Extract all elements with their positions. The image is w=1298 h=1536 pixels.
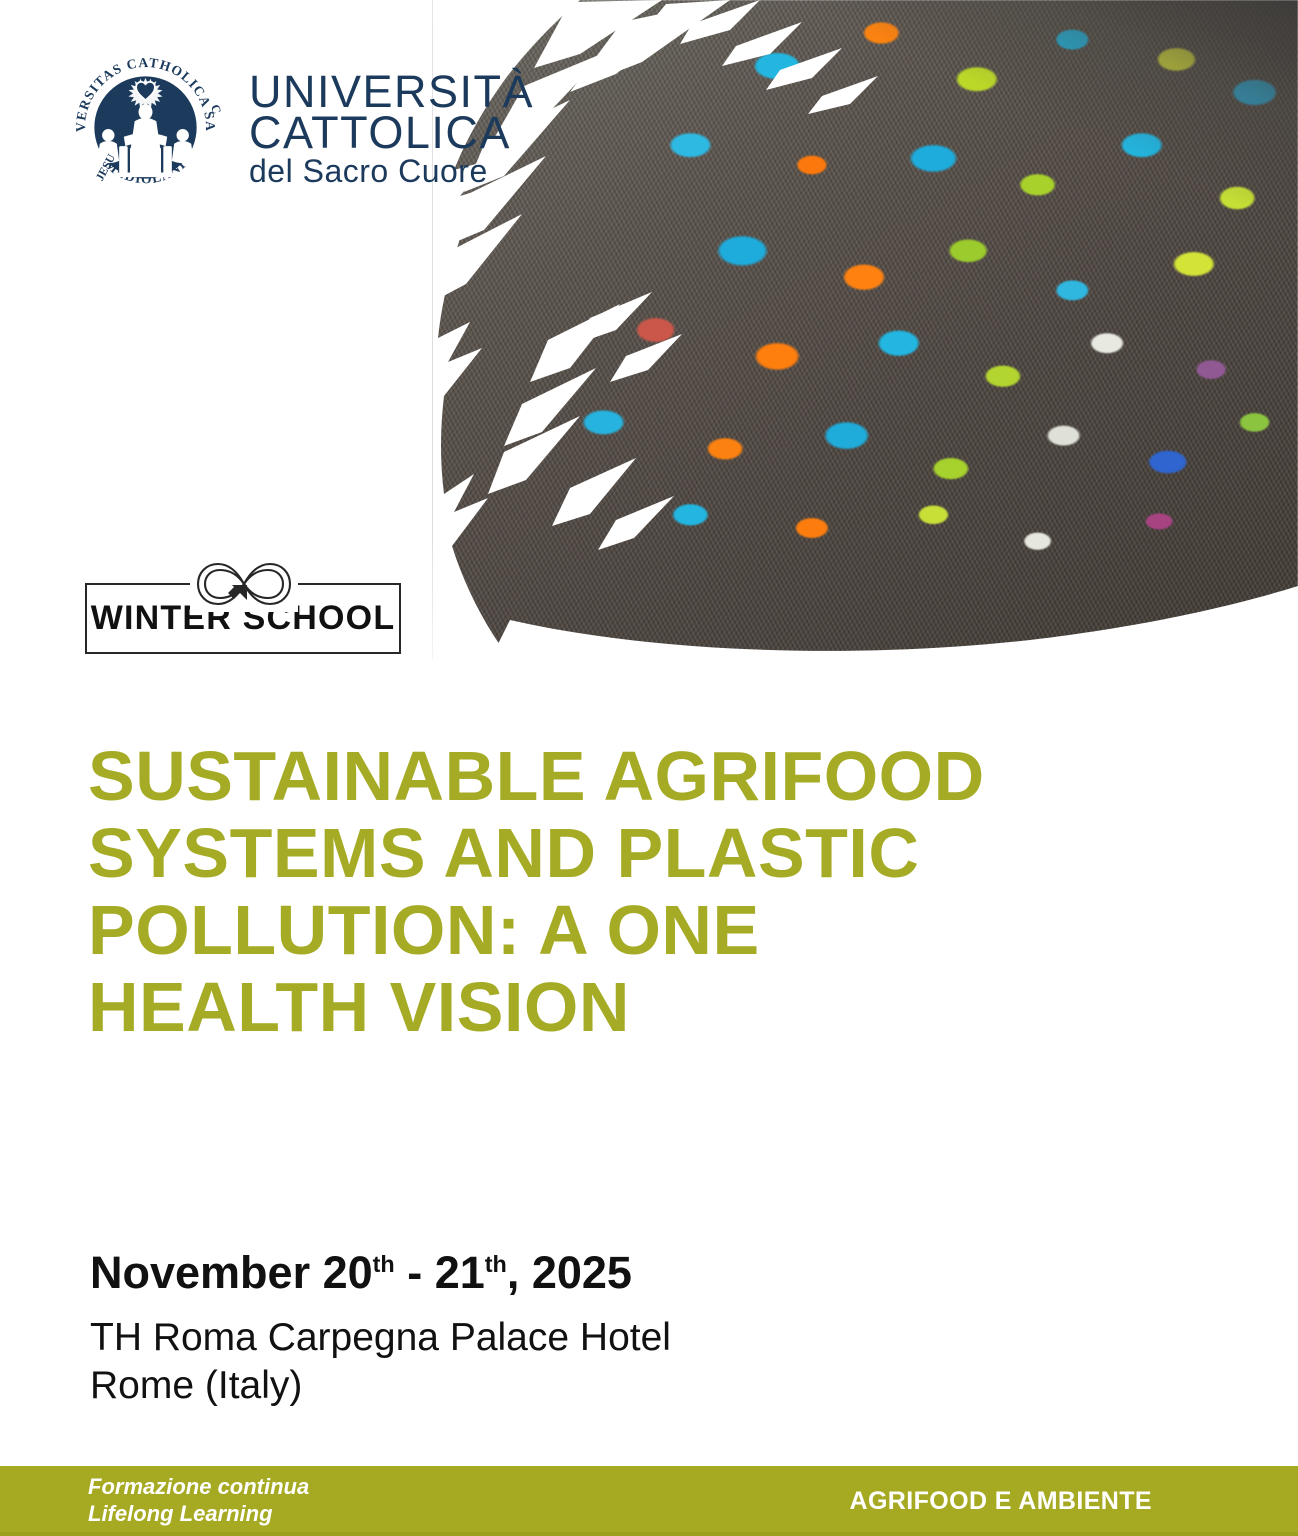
infinity-arrow-icon	[190, 556, 298, 612]
event-date-mid: - 21	[395, 1247, 485, 1298]
footer-left-block: Formazione continua Lifelong Learning	[88, 1474, 309, 1528]
event-date-prefix: November 20	[90, 1247, 373, 1298]
event-date-sup1: th	[373, 1251, 395, 1277]
university-name-line2: CATTOLICA	[249, 110, 534, 155]
ucsc-seal-icon: UNIVERSITAS CATHOLICA SACRI MEDIOLANI C	[68, 50, 223, 205]
event-venue-block: TH Roma Carpegna Palace Hotel Rome (Ital…	[90, 1314, 671, 1409]
event-details: November 20th - 21th, 2025 TH Roma Carpe…	[90, 1248, 671, 1410]
footer-lifelong-learning: Lifelong Learning	[88, 1501, 309, 1528]
event-venue: TH Roma Carpegna Palace Hotel	[90, 1314, 671, 1362]
hero-image-region	[430, 0, 1298, 660]
university-logo: UNIVERSITAS CATHOLICA SACRI MEDIOLANI C	[68, 50, 534, 205]
university-name-line3: del Sacro Cuore	[249, 155, 534, 187]
university-wordmark: UNIVERSITÀ CATTOLICA del Sacro Cuore	[249, 69, 534, 187]
title-line-1: SUSTAINABLE AGRIFOOD	[88, 738, 1238, 815]
title-line-4: HEALTH VISION	[88, 969, 1238, 1046]
page-title: SUSTAINABLE AGRIFOOD SYSTEMS AND PLASTIC…	[88, 738, 1238, 1046]
event-date-suffix: , 2025	[507, 1247, 632, 1298]
brush-stroke-mask	[430, 0, 1298, 660]
event-date-sup2: th	[485, 1251, 507, 1277]
microplastics-photo	[430, 0, 1298, 660]
winter-school-badge: WINTER SCHOOL	[85, 556, 403, 656]
footer-formazione-continua: Formazione continua	[88, 1474, 309, 1501]
title-line-3: POLLUTION: A ONE	[88, 892, 1238, 969]
event-date: November 20th - 21th, 2025	[90, 1248, 671, 1298]
poster-page: UNIVERSITAS CATHOLICA SACRI MEDIOLANI C	[0, 0, 1298, 1536]
title-line-2: SYSTEMS AND PLASTIC	[88, 815, 1238, 892]
footer-agrifood-ambiente: AGRIFOOD E AMBIENTE	[849, 1487, 1152, 1516]
footer-bar: Formazione continua Lifelong Learning AG…	[0, 1466, 1298, 1536]
event-city: Rome (Italy)	[90, 1362, 671, 1410]
